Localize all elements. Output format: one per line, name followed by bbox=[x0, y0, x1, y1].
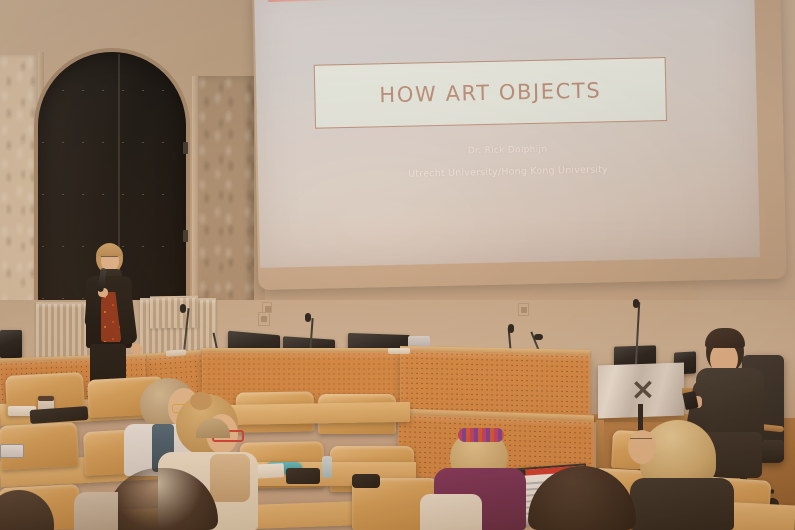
audience-5-face bbox=[628, 430, 656, 464]
audience-2-bun bbox=[190, 392, 212, 410]
lectern-leg-left bbox=[596, 420, 604, 474]
audience-4-white-top bbox=[420, 494, 482, 530]
audience-5-jacket bbox=[630, 478, 734, 530]
audience-3-shoulder bbox=[74, 492, 118, 530]
monitor-far-left bbox=[0, 330, 22, 358]
seated-man-hair-top bbox=[705, 328, 745, 348]
slide-title-box: HOW ART OBJECTS bbox=[314, 57, 667, 129]
slide-title: HOW ART OBJECTS bbox=[379, 78, 601, 107]
wall-outlet-left[interactable] bbox=[258, 312, 270, 326]
microphone-head-3 bbox=[305, 313, 311, 322]
wall-switch[interactable] bbox=[262, 302, 272, 313]
audience-4-hair-beads bbox=[458, 428, 504, 442]
slide-affiliation: Utrecht University/Hong Kong University bbox=[258, 161, 758, 183]
wall-outlet-right[interactable] bbox=[518, 303, 529, 316]
tablet-device[interactable] bbox=[0, 444, 24, 458]
lectern-x-logo: × bbox=[630, 378, 656, 405]
radiator-center-top bbox=[150, 296, 198, 329]
door-hinge-upper bbox=[183, 142, 188, 154]
door-hinge-lower bbox=[183, 230, 188, 242]
lecture-hall-photo: HOW ART OBJECTS Dr. Rick Dolphijn Utrech… bbox=[0, 0, 795, 530]
papers-on-front-desk[interactable] bbox=[388, 348, 410, 354]
radiator-left bbox=[36, 302, 92, 362]
microphone-head-5 bbox=[633, 299, 639, 308]
audience-5-glasses bbox=[630, 438, 652, 445]
water-bottle[interactable] bbox=[322, 456, 332, 478]
microphone-head-4 bbox=[508, 324, 514, 333]
microphone-head-6 bbox=[534, 334, 543, 340]
presentation-slide: HOW ART OBJECTS Dr. Rick Dolphijn Utrech… bbox=[254, 0, 760, 268]
black-bag-right[interactable] bbox=[352, 474, 380, 488]
black-bag-center[interactable] bbox=[286, 468, 320, 484]
microphone-head-1 bbox=[180, 304, 186, 313]
audience-2-scarf bbox=[210, 454, 250, 502]
slide-speaker-name: Dr. Rick Dolphijn bbox=[258, 140, 758, 161]
presenter-glasses bbox=[101, 256, 118, 261]
